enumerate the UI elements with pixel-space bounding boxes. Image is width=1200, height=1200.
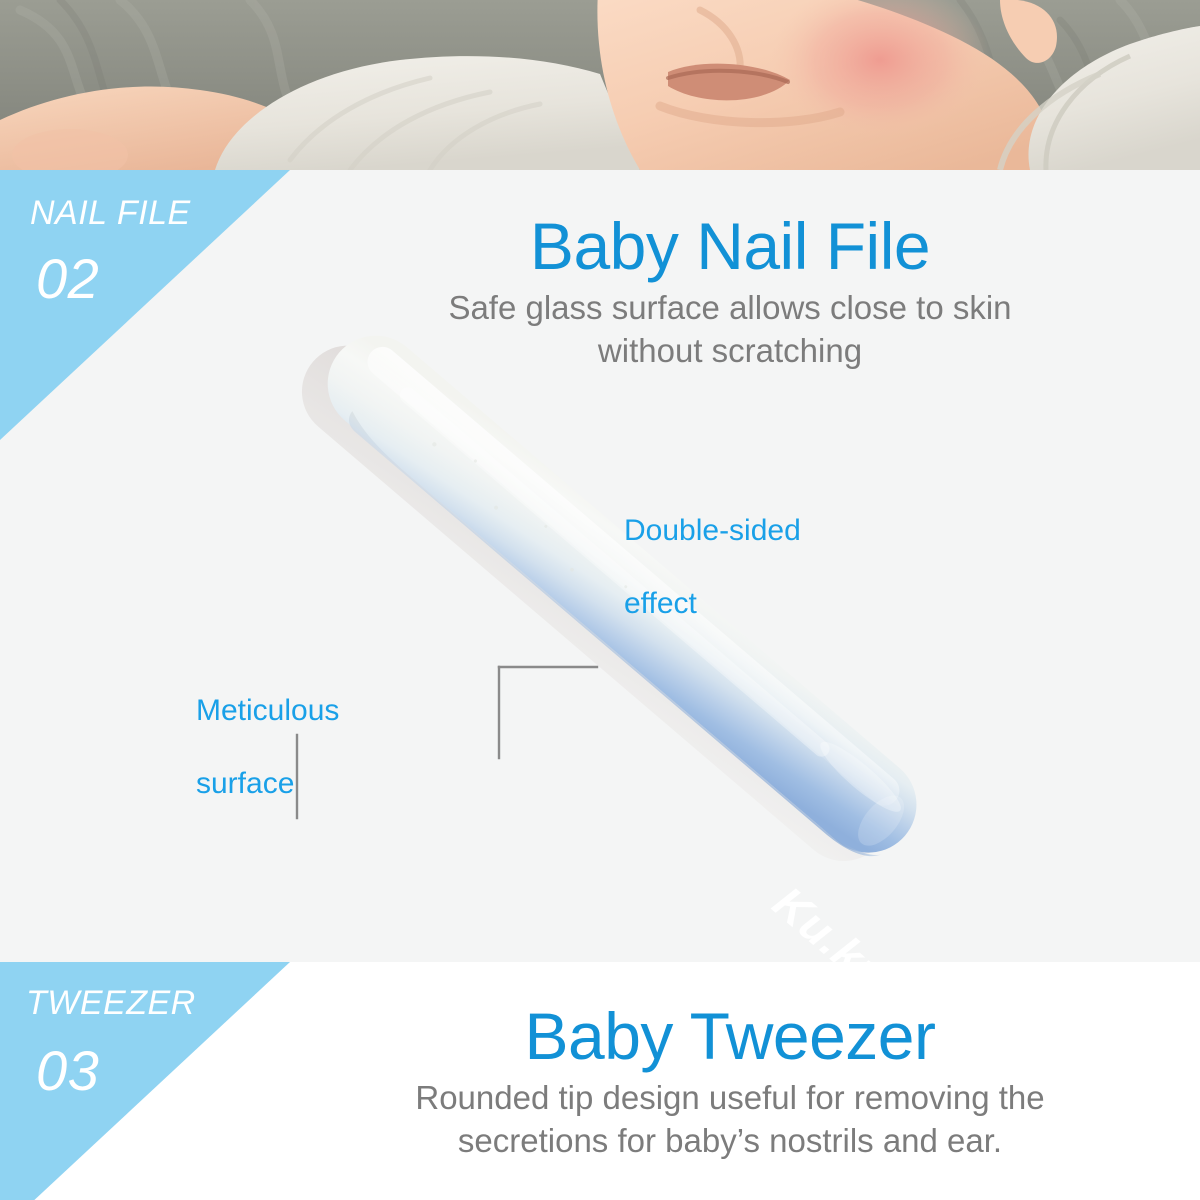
baby-photo-icon — [0, 0, 1200, 170]
callout-line-1: Meticulous — [196, 694, 339, 727]
ribbon-step-number: 02 — [36, 246, 99, 311]
ribbon-tweezer: TWEEZER 03 — [0, 962, 290, 1200]
subtitle-line-2: without scratching — [598, 332, 862, 369]
section-tweezer: TWEEZER 03 Baby Tweezer Rounded tip desi… — [0, 962, 1200, 1200]
callout-meticulous-surface: Meticulous surface — [196, 656, 339, 802]
callout-line-1: Double-sided — [624, 514, 801, 547]
nail-file-heading-block: Baby Nail File Safe glass surface allows… — [260, 212, 1200, 373]
section-nail-file: NAIL FILE 02 Baby Nail File Safe glass s… — [0, 170, 1200, 962]
product-infographic-page: NAIL FILE 02 Baby Nail File Safe glass s… — [0, 0, 1200, 1200]
page-title-tweezer: Baby Tweezer — [260, 1002, 1200, 1071]
ribbon-step-number: 03 — [36, 1038, 99, 1103]
callout-line-2: surface — [196, 767, 294, 800]
page-title-nail-file: Baby Nail File — [260, 212, 1200, 281]
ribbon-category-label: TWEEZER — [26, 984, 196, 1023]
subtitle-nail-file: Safe glass surface allows close to skin … — [260, 287, 1200, 373]
tweezer-heading-block: Baby Tweezer Rounded tip design useful f… — [260, 1002, 1200, 1163]
subtitle-line-2: secretions for baby’s nostrils and ear. — [458, 1122, 1002, 1159]
subtitle-tweezer: Rounded tip design useful for removing t… — [260, 1077, 1200, 1163]
callout-line-2: effect — [624, 587, 697, 620]
hero-photo — [0, 0, 1200, 170]
leader-line-double-sided — [499, 667, 597, 758]
brand-logo-text: Ku.ku — [764, 876, 899, 962]
ribbon-category-label: NAIL FILE — [30, 194, 191, 233]
subtitle-line-1: Rounded tip design useful for removing t… — [415, 1079, 1044, 1116]
ribbon-nail-file: NAIL FILE 02 — [0, 170, 290, 440]
callout-double-sided-effect: Double-sided effect — [624, 476, 801, 622]
subtitle-line-1: Safe glass surface allows close to skin — [448, 289, 1011, 326]
